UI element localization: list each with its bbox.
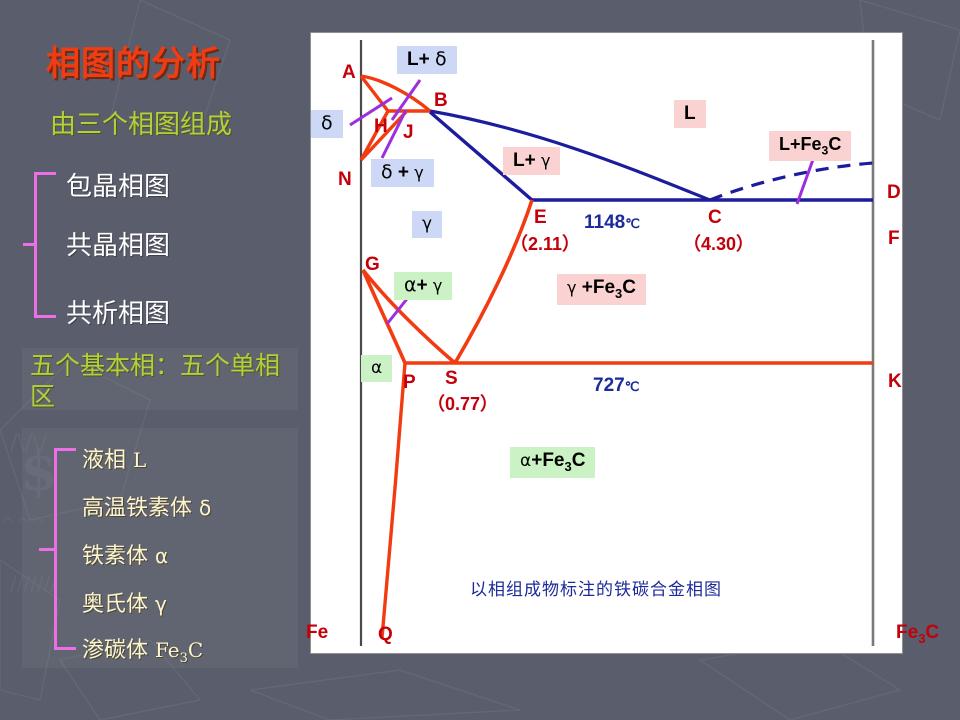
phase-name: 液相 <box>82 448 126 473</box>
list-item-phase-liquid: 液相 L <box>82 442 146 474</box>
point-label-P: P <box>403 372 416 394</box>
temp-unit-727: ℃ <box>625 379 640 394</box>
page-title: 相图的分析 <box>46 36 221 85</box>
phase-name: 铁素体 <box>82 544 148 569</box>
point-label-K: K <box>888 371 902 393</box>
field-label-L-delta: L+ δ <box>397 46 457 74</box>
point-label-S: S <box>445 368 458 390</box>
phase-name: 渗碳体 <box>82 638 148 663</box>
temp-label-727: 727℃ <box>593 375 639 397</box>
field-label-L-Fe3C: L+Fe3C <box>769 131 851 161</box>
field-label-L-gamma: L+ γ <box>503 147 560 175</box>
point-label-H: H <box>374 116 388 138</box>
slide-root: $ /\/\/ /////// ^^^ 相图的分析 由三个相图组成 包晶相图 共… <box>0 0 960 720</box>
phase-diagram-panel: L+ δ δ δ + γ γ L+ γ L L+Fe3C α+ γ γ +Fe3… <box>310 32 903 654</box>
point-value-E: （2.11） <box>510 230 580 256</box>
point-label-J: J <box>403 122 414 144</box>
list-item-phase-ferrite: 铁素体 α <box>82 538 168 570</box>
point-label-C: C <box>708 207 722 229</box>
temp-unit-1148: ℃ <box>625 216 640 231</box>
phase-symbol: Fe3C <box>155 638 203 662</box>
bullet-peritectic: 包晶相图 <box>66 166 170 203</box>
axis-label-fe3c: Fe3C <box>896 622 939 646</box>
field-label-delta: δ <box>311 110 343 138</box>
phase-symbol: γ <box>155 592 167 616</box>
phase-diagram-svg <box>310 32 903 654</box>
field-label-alpha-Fe3C: α+Fe3C <box>510 447 595 478</box>
sidebar: 相图的分析 由三个相图组成 包晶相图 共晶相图 共析相图 五个基本相：五个单相区… <box>0 0 310 720</box>
point-label-B: B <box>434 90 448 112</box>
point-label-A: A <box>342 62 356 84</box>
temp-value-1148: 1148 <box>584 212 625 233</box>
list-item-phase-austenite: 奥氏体 γ <box>82 586 167 618</box>
bullet-eutectic: 共晶相图 <box>66 225 170 262</box>
phase-symbol: α <box>155 544 168 568</box>
subtitle-composition: 由三个相图组成 <box>50 104 232 141</box>
point-value-S: （0.77） <box>427 390 498 416</box>
field-label-gamma-Fe3C: γ +Fe3C <box>557 274 646 305</box>
temp-label-1148: 1148℃ <box>584 212 640 234</box>
point-label-G: G <box>365 254 380 276</box>
point-value-C: （4.30） <box>683 230 754 256</box>
phase-symbol: δ <box>199 496 211 520</box>
bracket-diagram-group <box>34 172 56 318</box>
list-item-phase-delta-ferrite: 高温铁素体 δ <box>82 490 211 522</box>
phase-name: 奥氏体 <box>82 592 148 617</box>
bullet-eutectoid: 共析相图 <box>66 293 170 330</box>
point-label-Q: Q <box>378 624 393 646</box>
field-label-delta-gamma: δ + γ <box>371 159 434 187</box>
bracket-phase-group <box>54 448 76 650</box>
field-label-gamma: γ <box>412 211 442 238</box>
diagram-caption: 以相组成物标注的铁碳合金相图 <box>470 575 722 600</box>
axis-label-fe: Fe <box>306 622 328 644</box>
point-label-N: N <box>338 169 352 191</box>
temp-value-727: 727 <box>593 375 625 396</box>
subtitle-five-phases: 五个基本相：五个单相区 <box>30 350 302 412</box>
phase-name: 高温铁素体 <box>82 496 192 521</box>
point-label-D: D <box>887 182 901 204</box>
point-label-E: E <box>534 207 547 229</box>
phase-symbol: L <box>133 448 146 472</box>
point-label-F: F <box>888 228 900 250</box>
field-label-L: L <box>674 100 706 128</box>
field-label-alpha-gamma: α+ γ <box>394 272 452 300</box>
list-item-phase-cementite: 渗碳体 Fe3C <box>82 632 203 666</box>
field-label-alpha: α <box>361 355 392 382</box>
